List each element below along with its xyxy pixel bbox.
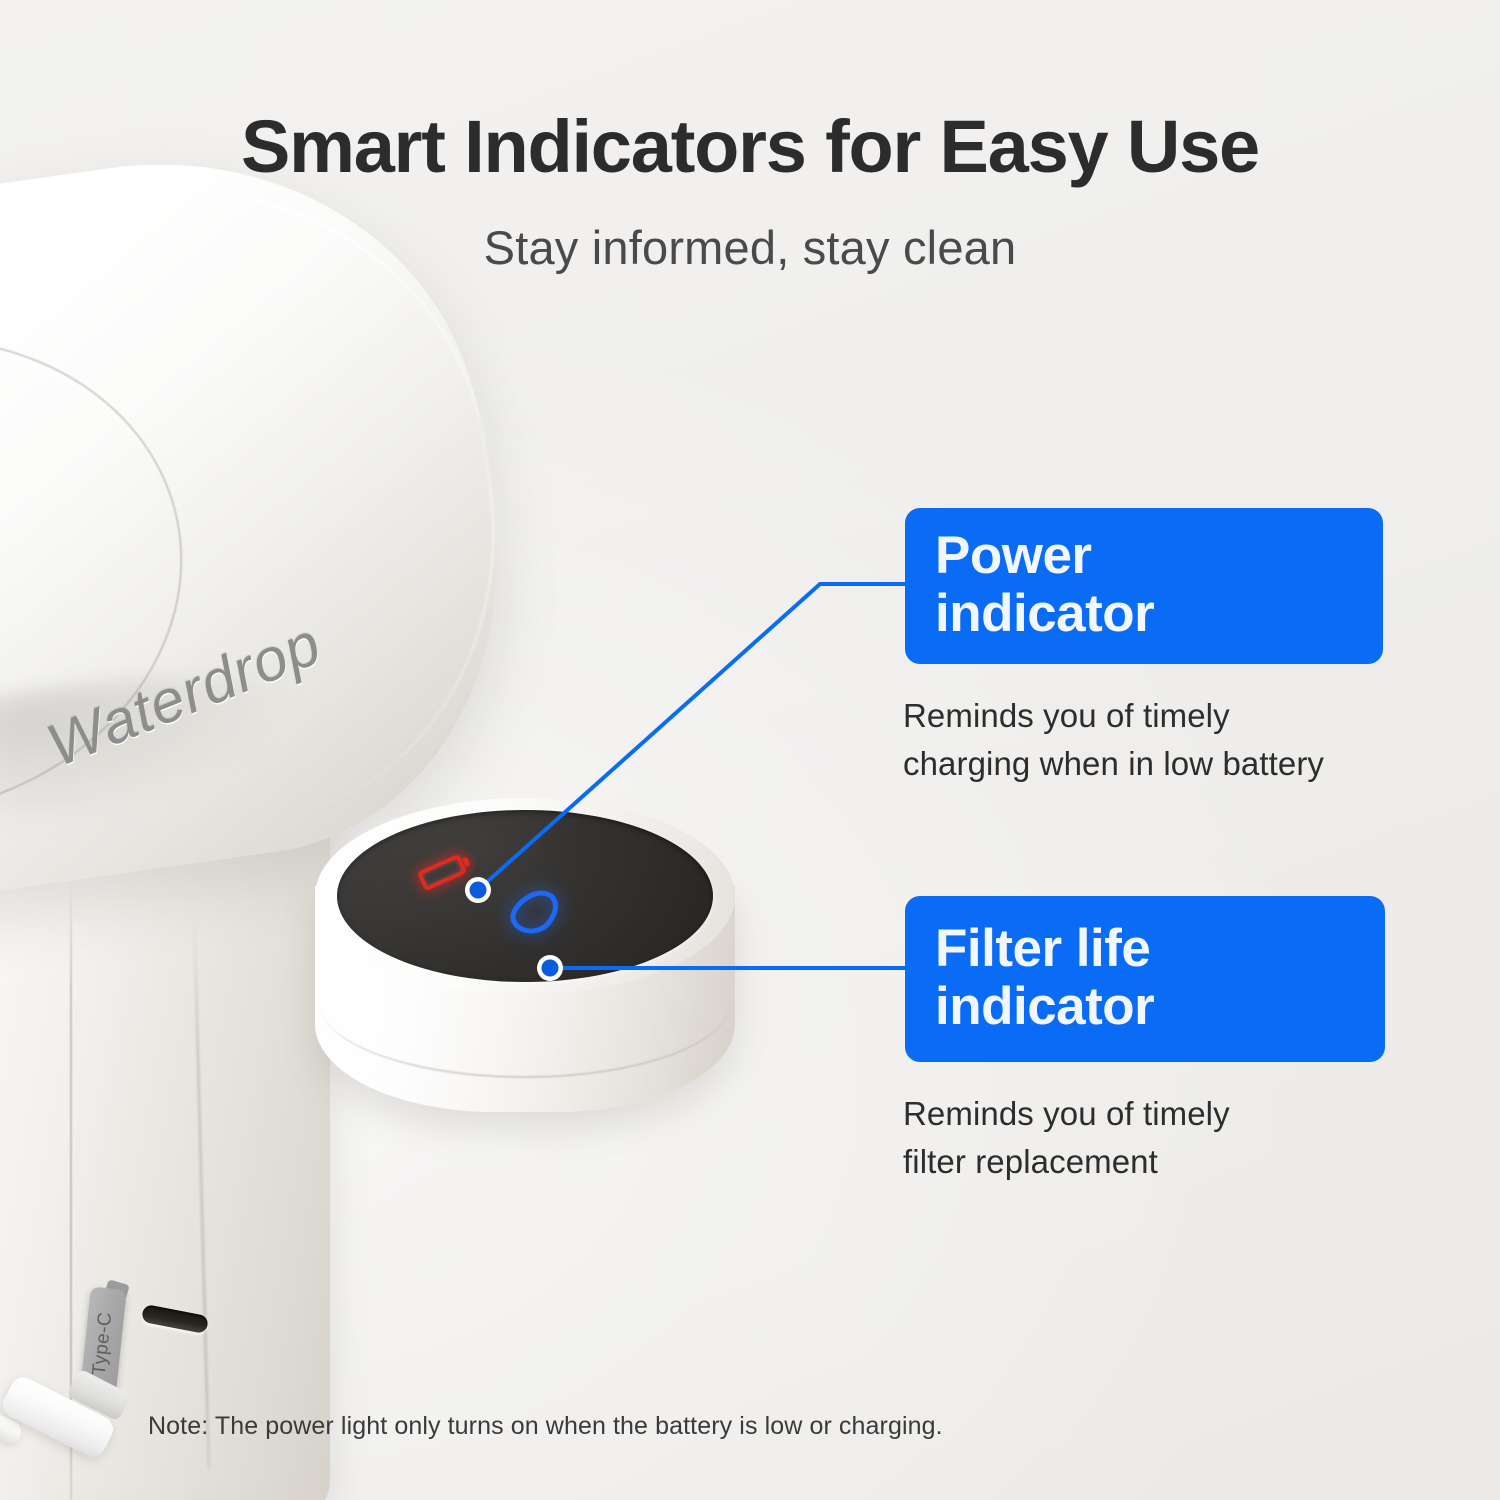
- callout-description-power-line2: charging when in low battery: [903, 740, 1423, 788]
- indicator-module: [315, 798, 735, 1118]
- callout-badge-power-line2: indicator: [935, 585, 1357, 643]
- page-subtitle: Stay informed, stay clean: [0, 222, 1500, 274]
- infographic-canvas: Waterdrop: [0, 0, 1500, 1500]
- callout-description-filter-line1: Reminds you of timely: [903, 1090, 1383, 1138]
- callout-badge-power-line1: Power: [935, 527, 1357, 585]
- product-photo: Waterdrop: [0, 190, 770, 1500]
- footnote-text: Note: The power light only turns on when…: [148, 1412, 943, 1441]
- typec-tag-label: Type-C: [89, 1311, 118, 1377]
- callout-badge-filter: Filter life indicator: [905, 896, 1385, 1062]
- indicator-panel: [337, 810, 713, 982]
- callout-description-filter: Reminds you of timely filter replacement: [903, 1090, 1383, 1186]
- callout-badge-power: Power indicator: [905, 508, 1383, 664]
- callout-badge-filter-line1: Filter life: [935, 920, 1359, 978]
- callout-description-filter-line2: filter replacement: [903, 1138, 1383, 1186]
- callout-badge-filter-line2: indicator: [935, 978, 1359, 1036]
- page-title: Smart Indicators for Easy Use: [0, 108, 1500, 186]
- callout-description-power: Reminds you of timely charging when in l…: [903, 692, 1423, 788]
- callout-description-power-line1: Reminds you of timely: [903, 692, 1423, 740]
